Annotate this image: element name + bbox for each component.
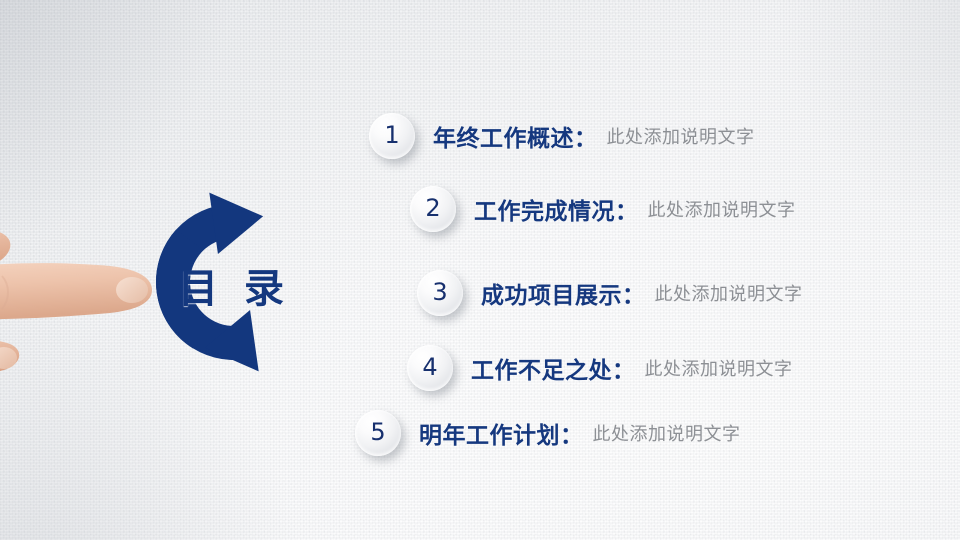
agenda-description-3: 此处添加说明文字 (655, 280, 803, 306)
agenda-badge-2: 2 (410, 186, 456, 232)
agenda-title-2: 工作完成情况： (474, 192, 639, 226)
agenda-number-2: 2 (425, 196, 440, 220)
agenda-item-2[interactable]: 2 工作完成情况： 此处添加说明文字 (410, 186, 796, 232)
agenda-description-5: 此处添加说明文字 (593, 420, 741, 446)
agenda-number-4: 4 (422, 355, 437, 379)
agenda-item-5[interactable]: 5 明年工作计划： 此处添加说明文字 (355, 410, 741, 456)
agenda-item-3[interactable]: 3 成功项目展示： 此处添加说明文字 (417, 270, 803, 316)
agenda-title-1: 年终工作概述： (433, 119, 598, 153)
agenda-badge-3: 3 (417, 270, 463, 316)
agenda-item-1[interactable]: 1 年终工作概述： 此处添加说明文字 (369, 113, 755, 159)
agenda-description-1: 此处添加说明文字 (607, 123, 755, 149)
agenda-title-4: 工作不足之处： (471, 351, 636, 385)
agenda-number-5: 5 (370, 420, 385, 444)
presentation-slide: 目 录 1 年终工作概述： 此处添加说明文字 2 工作完成情况： 此处添加说明文… (0, 0, 960, 540)
agenda-badge-5: 5 (355, 410, 401, 456)
agenda-list: 1 年终工作概述： 此处添加说明文字 2 工作完成情况： 此处添加说明文字 3 … (0, 0, 960, 540)
agenda-number-1: 1 (384, 123, 399, 147)
agenda-title-5: 明年工作计划： (419, 416, 584, 450)
agenda-description-4: 此处添加说明文字 (645, 355, 793, 381)
agenda-item-4[interactable]: 4 工作不足之处： 此处添加说明文字 (407, 345, 793, 391)
agenda-badge-4: 4 (407, 345, 453, 391)
agenda-number-3: 3 (432, 280, 447, 304)
agenda-badge-1: 1 (369, 113, 415, 159)
agenda-title-3: 成功项目展示： (481, 276, 646, 310)
agenda-description-2: 此处添加说明文字 (648, 196, 796, 222)
